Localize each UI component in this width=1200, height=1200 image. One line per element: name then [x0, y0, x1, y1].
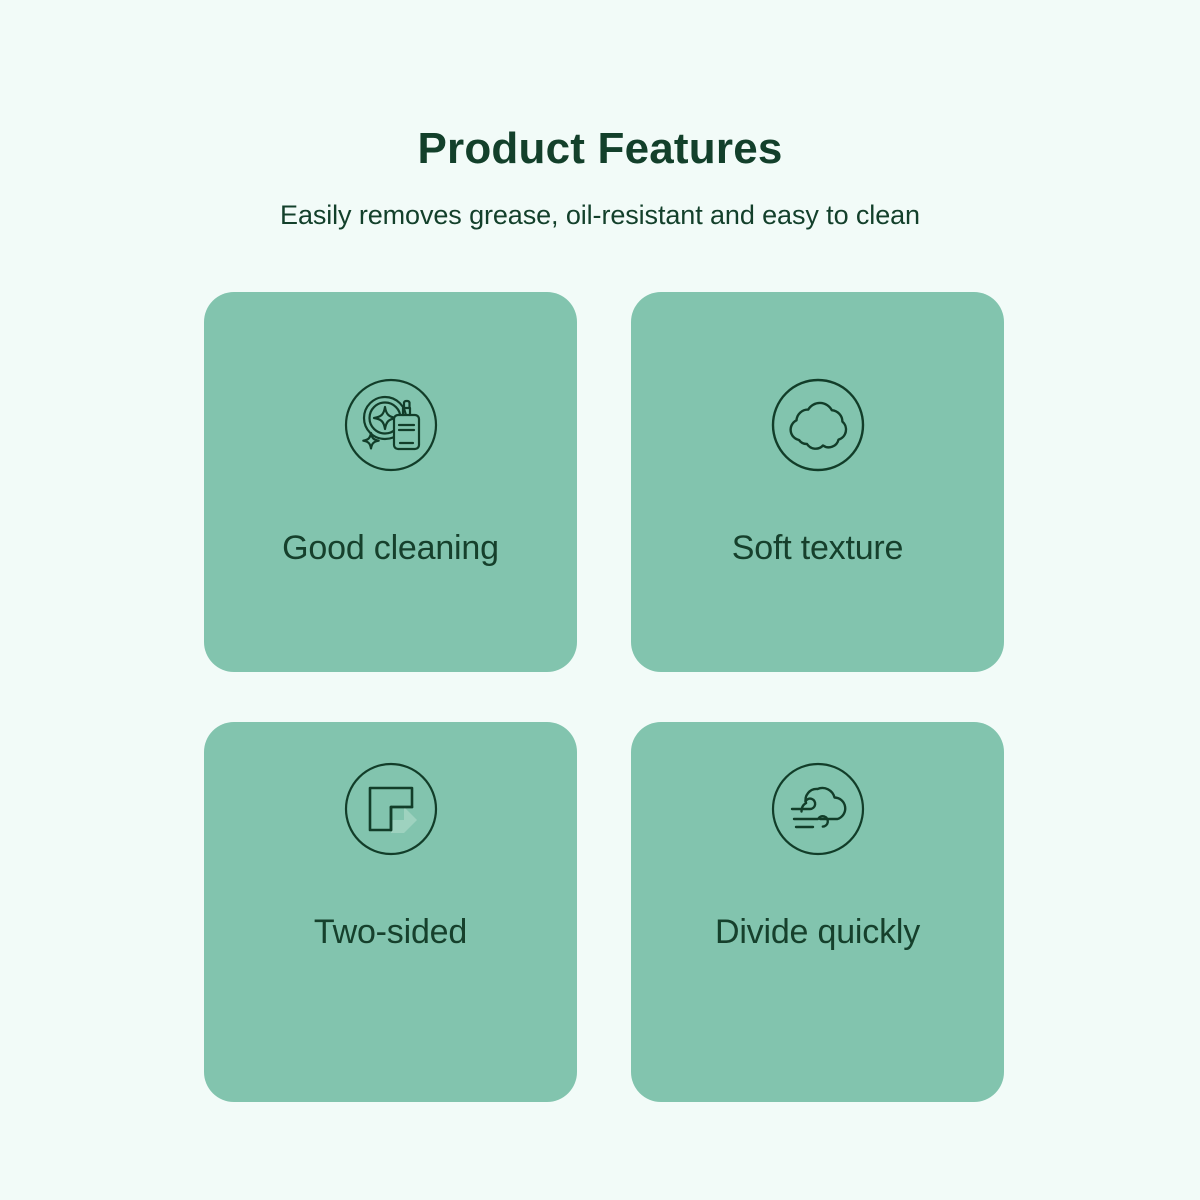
feature-card-label: Two-sided [204, 912, 577, 953]
folded-corner-square-icon [343, 761, 439, 857]
dish-sparkle-detergent-icon [343, 377, 439, 473]
feature-card-two-sided[interactable]: Two-sided [204, 722, 577, 1102]
feature-grid: Good cleaning Soft texture [204, 292, 1004, 1102]
feature-card-good-cleaning[interactable]: Good cleaning [204, 292, 577, 672]
feature-card-label: Good cleaning [204, 528, 577, 569]
windy-cloud-icon [770, 761, 866, 857]
feature-card-label: Soft texture [631, 528, 1004, 569]
cloud-icon [770, 377, 866, 473]
page-title: Product Features [0, 124, 1200, 175]
page-subtitle: Easily removes grease, oil-resistant and… [0, 199, 1200, 231]
header: Product Features Easily removes grease, … [0, 124, 1200, 231]
feature-card-divide-quickly[interactable]: Divide quickly [631, 722, 1004, 1102]
product-features-page: Product Features Easily removes grease, … [0, 0, 1200, 1200]
feature-card-label: Divide quickly [631, 912, 1004, 953]
feature-card-soft-texture[interactable]: Soft texture [631, 292, 1004, 672]
